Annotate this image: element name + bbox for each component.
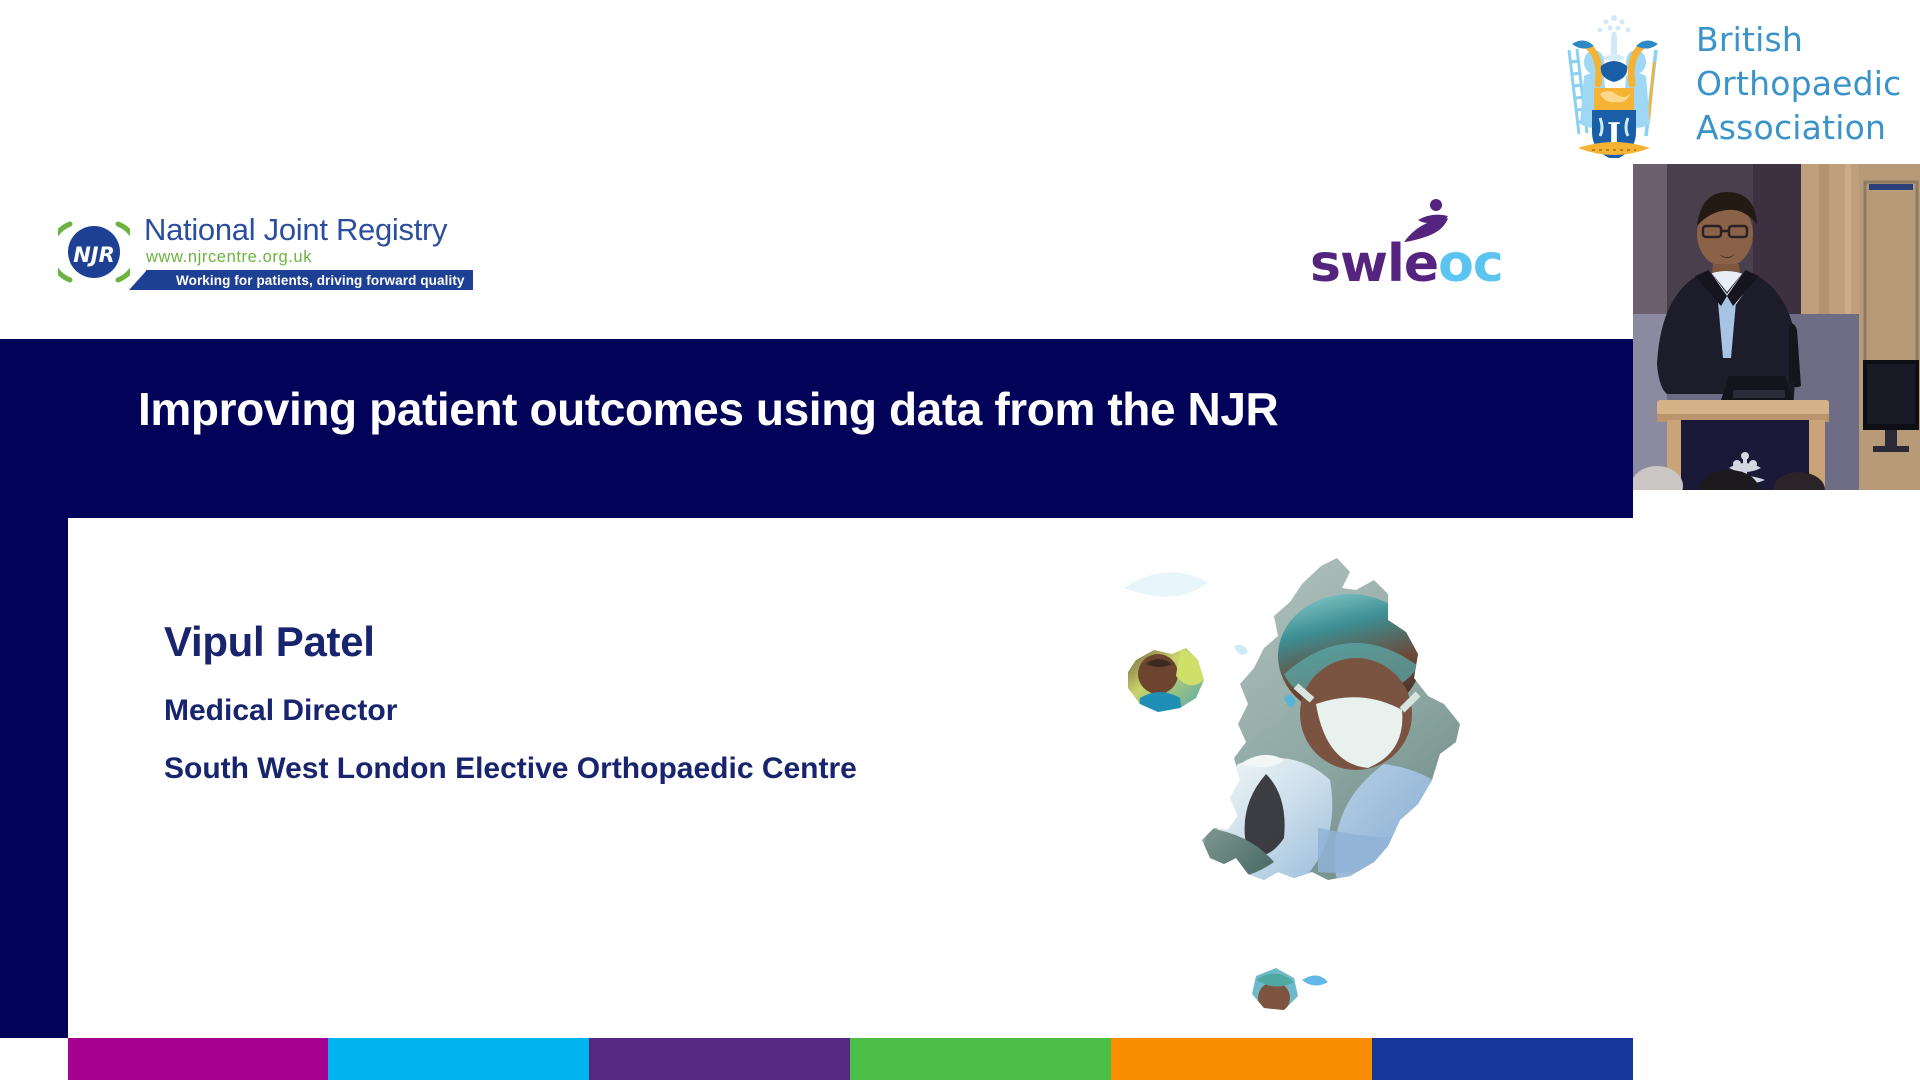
swleoc-word-dark: swle <box>1310 234 1438 294</box>
njr-url: www.njrcentre.org.uk <box>146 248 312 267</box>
colour-bar-segment-blue <box>1372 1038 1633 1080</box>
boa-crest-icon: I <box>1546 10 1682 158</box>
slide-content-panel: Vipul Patel Medical Director South West … <box>68 518 1633 1038</box>
colour-bar-segment-green <box>850 1038 1111 1080</box>
njr-tagline: Working for patients, driving forward qu… <box>176 273 465 288</box>
boa-wordmark: British Orthopaedic Association <box>1696 18 1902 150</box>
njr-roundel-icon: NJR <box>58 216 130 288</box>
speaker-podium-video[interactable] <box>1633 164 1920 490</box>
slide-left-rail <box>0 518 68 1038</box>
boa-line-1: British <box>1696 18 1902 62</box>
boa-line-2: Orthopaedic <box>1696 62 1902 106</box>
colour-bar-segment-orange <box>1111 1038 1372 1080</box>
colour-bar-segment-magenta <box>68 1038 328 1080</box>
njr-logo: NJR National Joint Registry www.njrcentr… <box>58 212 430 288</box>
swleoc-wordmark: swleoc <box>1310 238 1503 290</box>
boa-logo: I British Orthopaedic Association <box>1546 8 1906 160</box>
njr-mark-text: NJR <box>73 243 115 267</box>
colour-bar-segment-cyan <box>328 1038 589 1080</box>
slide-title: Improving patient outcomes using data fr… <box>138 382 1278 436</box>
slide-title-band: Improving patient outcomes using data fr… <box>0 339 1633 518</box>
swleoc-word-light: oc <box>1438 234 1503 294</box>
njr-tagline-bar: Working for patients, driving forward qu… <box>146 270 473 290</box>
speaker-role: Medical Director <box>164 694 857 728</box>
presentation-slide: I British Orthopaedic Association NJR Na… <box>0 0 1920 1080</box>
njr-title: National Joint Registry <box>144 212 447 248</box>
speaker-block: Vipul Patel Medical Director South West … <box>164 618 857 786</box>
speaker-organisation: South West London Elective Orthopaedic C… <box>164 752 857 786</box>
uk-map-surgical-team-montage <box>1088 528 1508 1033</box>
swleoc-logo: swleoc <box>1310 198 1460 290</box>
slide-colour-bar <box>68 1038 1633 1080</box>
speaker-name: Vipul Patel <box>164 618 857 666</box>
boa-line-3: Association <box>1696 106 1902 150</box>
colour-bar-segment-purple <box>589 1038 850 1080</box>
